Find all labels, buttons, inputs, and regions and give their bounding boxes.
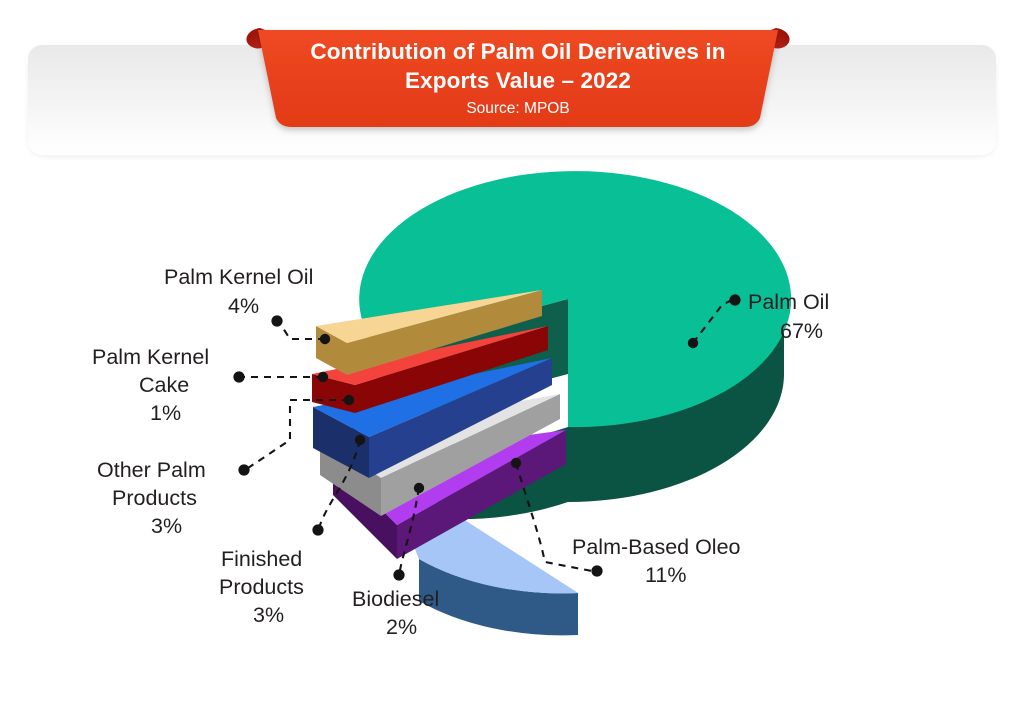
slice-dot-biodiesel [414,483,424,493]
slice-dot-finished-products [355,435,365,445]
slice-dot-palm-based-oleo [511,458,521,468]
label-dot-finished-products [312,524,323,535]
chart-page: Contribution of Palm Oil Derivatives in … [0,0,1024,702]
label-oleo-name: Palm-Based Oleo [572,535,741,559]
slice-dot-palm-kernel-oil [320,334,330,344]
label-palm-kernel-cake-name-1: Palm Kernel [92,345,209,369]
label-dot-palm-kernel-cake [233,371,244,382]
label-dot-palm-oil [729,294,740,305]
label-palm-kernel-oil-name: Palm Kernel Oil [164,265,313,289]
pie-chart: Palm Oil 67% Palm Kernel Oil 4% Palm Ker… [0,130,1024,702]
label-finished-name-2: Products [219,575,304,599]
slice-dot-other-palm-products [344,395,354,405]
label-palm-kernel-cake-name-2: Cake [139,373,189,397]
label-dot-palm-based-oleo [591,565,602,576]
title-banner [236,26,800,142]
callout-palm-kernel-cake: Palm Kernel Cake 1% [92,345,328,425]
slice-dot-palm-oil [688,338,698,348]
banner-body [258,30,778,127]
callout-palm-kernel-oil: Palm Kernel Oil 4% [164,265,330,344]
label-other-palm-name-2: Products [112,486,197,510]
label-finished-pct: 3% [253,603,284,627]
label-palm-oil-pct: 67% [780,319,823,343]
label-oleo-pct: 11% [645,563,686,587]
label-dot-other-palm-products [238,464,249,475]
label-finished-name-1: Finished [221,547,302,571]
slice-dot-palm-kernel-cake [318,372,328,382]
label-palm-kernel-oil-pct: 4% [228,294,259,318]
label-palm-oil-name: Palm Oil [748,290,829,314]
label-biodiesel-name: Biodiesel [352,587,439,611]
label-biodiesel-pct: 2% [386,615,417,639]
label-other-palm-name-1: Other Palm [97,458,206,482]
label-other-palm-pct: 3% [151,514,182,538]
label-dot-palm-kernel-oil [271,315,282,326]
label-dot-biodiesel [393,569,404,580]
label-palm-kernel-cake-pct: 1% [150,401,181,425]
